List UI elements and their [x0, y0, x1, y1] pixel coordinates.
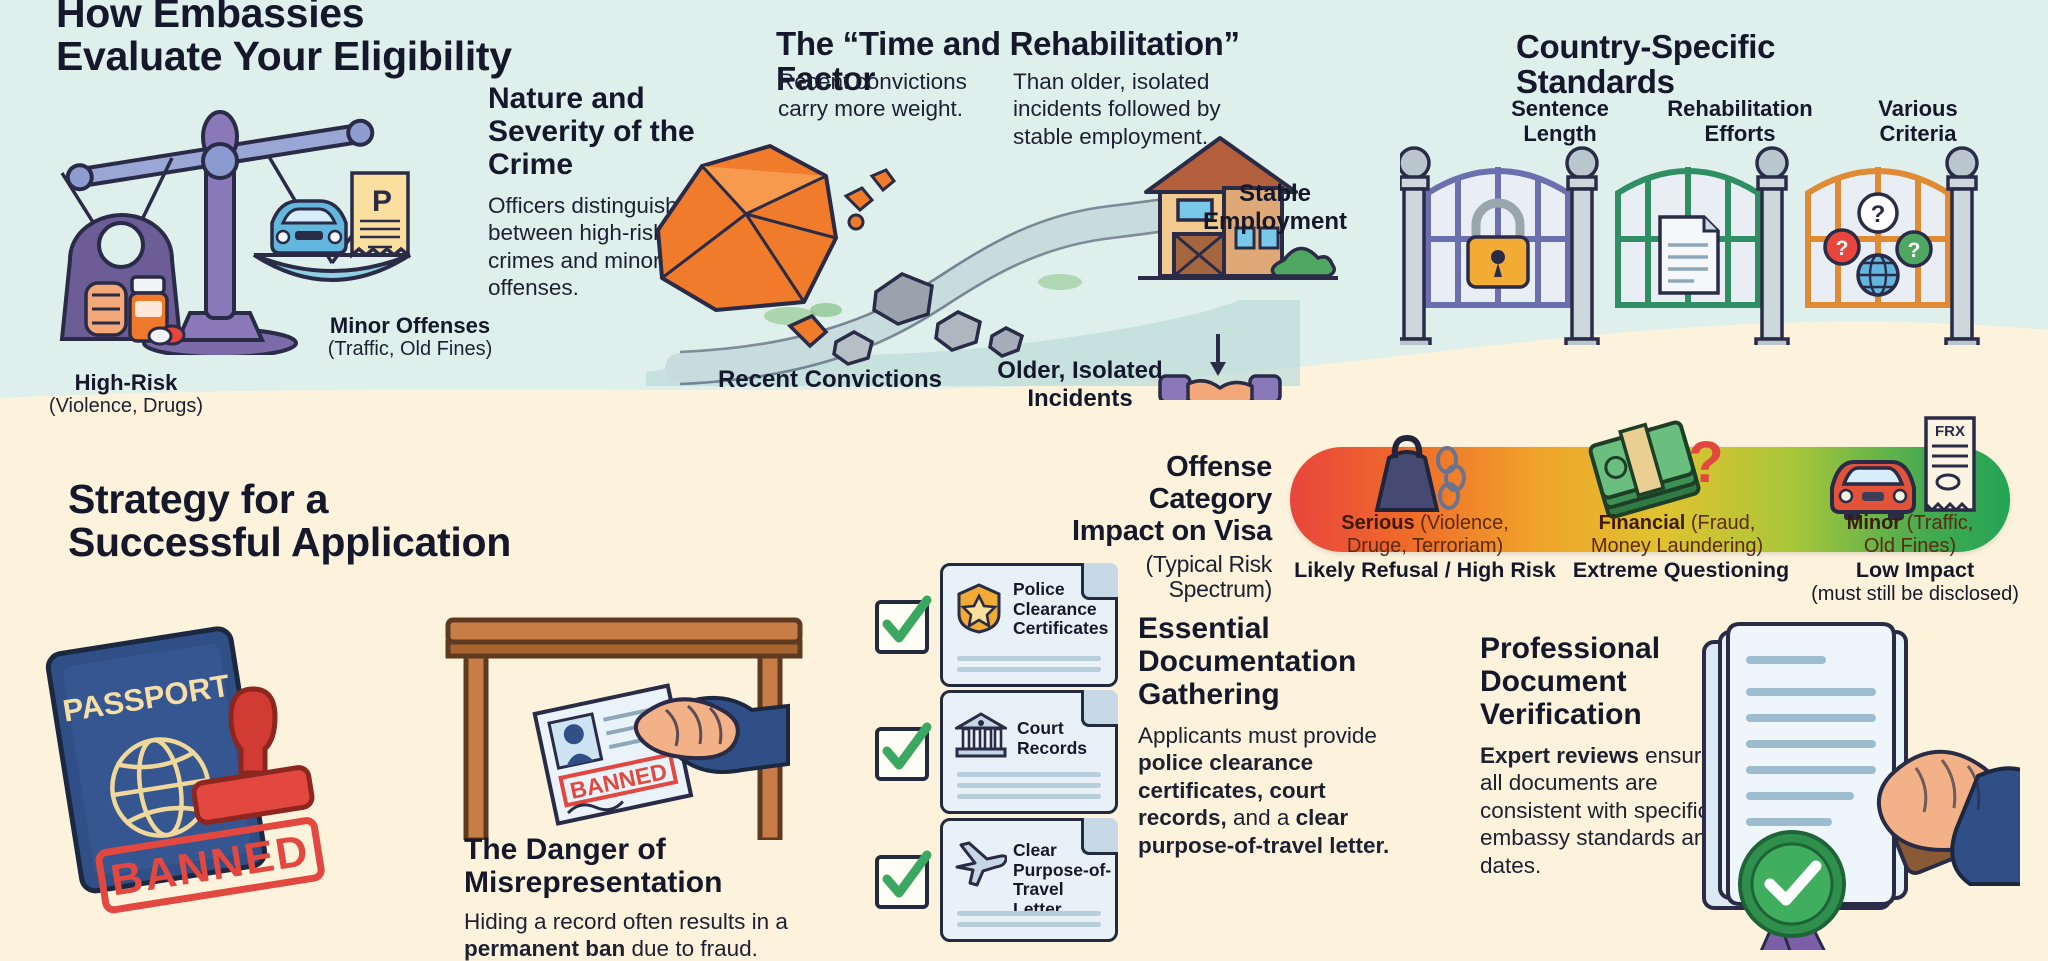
airplane-icon — [953, 837, 1007, 887]
spectrum-label-serious: Serious (Violence, Druge, Terroriam) — [1300, 512, 1550, 558]
gate-various-criteria: ? ? ? — [1808, 167, 1948, 305]
misrepresentation-title: The Danger of Misrepresentation — [464, 833, 794, 899]
fine-ticket-icon: FRX — [1926, 418, 1974, 510]
doc-lines — [957, 905, 1101, 927]
scale-minor-offenses-label: Minor Offenses (Traffic, Old Fines) — [295, 313, 525, 361]
recent-convictions-label: Recent Convictions — [700, 366, 960, 394]
question-mark-icon: ? — [1688, 430, 1723, 495]
justice-scale-illustration: P — [40, 55, 440, 355]
gate-rehabilitation-efforts — [1618, 167, 1758, 305]
doc-card-police-clearance: Police Clearance Certificates — [940, 563, 1118, 687]
globe-icon — [1858, 255, 1898, 295]
fist-icon — [86, 283, 126, 335]
misrepresentation-card: The Danger of Misrepresentation Hiding a… — [464, 833, 794, 961]
checkbox-court-records[interactable] — [875, 727, 929, 781]
misrepresentation-body: Hiding a record often results in a perma… — [464, 908, 794, 961]
scale-high-risk-label: High-Risk (Violence, Drugs) — [28, 370, 224, 418]
strategy-title-line2: Successful Application — [68, 521, 608, 564]
strategy-title-line1: Strategy for a — [68, 478, 608, 521]
doc-label-police-clearance: Police Clearance Certificates — [1013, 580, 1108, 639]
gate-post-3 — [1946, 148, 1978, 345]
essential-documentation-card: Essential Documentation Gathering Applic… — [1138, 612, 1418, 859]
spectrum-label-minor: Minor (Traffic, Old Fines) — [1790, 512, 2030, 558]
car-icon — [272, 201, 346, 253]
boulder-icon — [658, 146, 836, 310]
doc-lines — [957, 650, 1101, 672]
older-incidents-label: Older, Isolated Incidents — [950, 357, 1210, 412]
svg-text:?: ? — [1836, 237, 1849, 260]
spectrum-under-label-0: Likely Refusal / High Risk — [1280, 558, 1570, 583]
svg-text:?: ? — [1908, 239, 1921, 262]
gate-sentence-length — [1428, 167, 1568, 305]
stable-employment-label: Stable Employment — [1165, 180, 1385, 235]
courthouse-icon — [955, 711, 1007, 759]
checkbox-travel-letter[interactable] — [875, 855, 929, 909]
passport-banned-illustration: PASSPORT BANNED — [45, 615, 345, 915]
doc-card-court-records: Court Records — [940, 690, 1118, 814]
svg-text:P: P — [372, 185, 392, 218]
verified-seal-icon — [1740, 832, 1844, 950]
essential-documentation-title: Essential Documentation Gathering — [1138, 612, 1418, 711]
svg-text:?: ? — [1688, 430, 1723, 495]
under-table-bribe-illustration: BANNED — [440, 610, 820, 840]
ticket-code: FRX — [1935, 423, 1965, 440]
spectrum-label-financial: Financial (Fraud, Money Laundering) — [1542, 512, 1812, 558]
gate-post-0 — [1400, 148, 1430, 345]
document-icon — [1660, 217, 1718, 293]
essential-documentation-body: Applicants must provide police clearance… — [1138, 722, 1418, 859]
doc-lines — [957, 766, 1101, 799]
doc-label-court-records: Court Records — [1017, 719, 1087, 758]
country-gates-illustration: ? ? ? — [1400, 115, 2020, 345]
police-badge-icon — [955, 582, 1003, 634]
parking-ticket-icon: P — [352, 173, 408, 255]
gate-post-1 — [1566, 148, 1598, 345]
infographic-canvas: How Embassies Evaluate Your Eligibility — [0, 0, 2048, 961]
svg-text:?: ? — [1871, 201, 1886, 228]
gate-post-2 — [1756, 148, 1788, 345]
spectrum-under-label-2: Low Impact (must still be disclosed) — [1790, 558, 2040, 606]
strategy-title: Strategy for a Successful Application — [68, 478, 608, 565]
document-verification-illustration — [1690, 620, 2020, 950]
checkbox-police-clearance[interactable] — [875, 600, 929, 654]
doc-card-travel-letter: Clear Purpose-of- Travel Letter — [940, 818, 1118, 942]
country-standards-title: Country-Specific Standards — [1516, 30, 1936, 100]
spectrum-under-label-1: Extreme Questioning — [1548, 558, 1814, 583]
page-title-line1: How Embassies — [56, 0, 526, 35]
